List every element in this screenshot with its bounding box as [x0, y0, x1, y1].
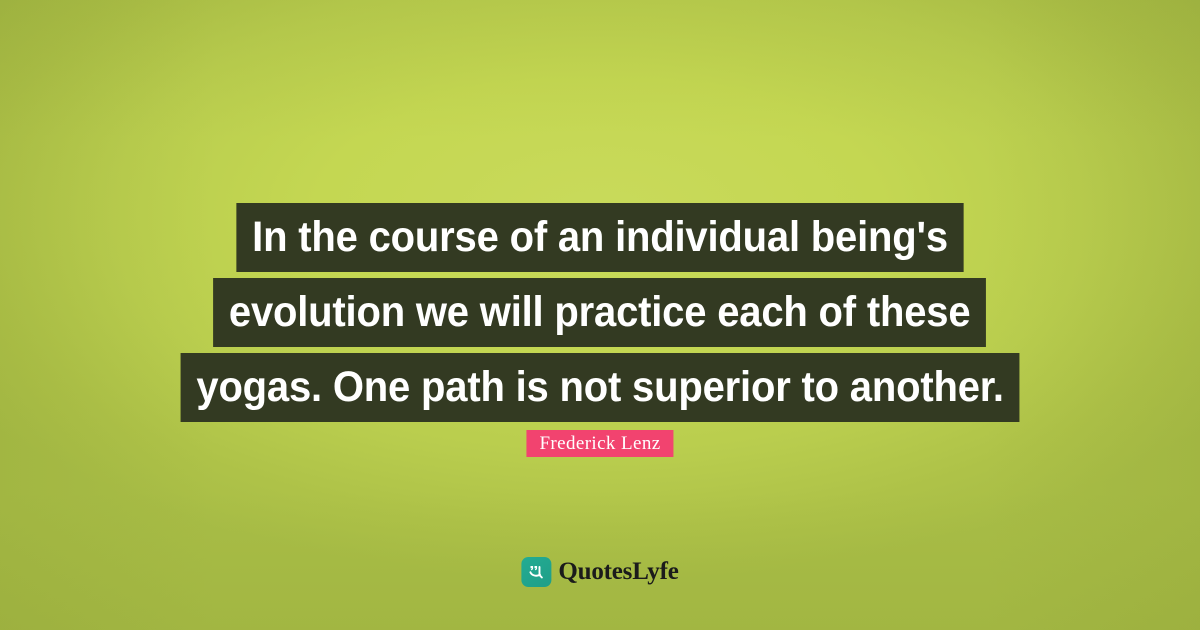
quote-line: evolution we will practice each of these: [213, 278, 986, 347]
quote-image-card: In the course of an individual being's e…: [0, 0, 1200, 630]
quote-line: yogas. One path is not superior to anoth…: [180, 353, 1019, 422]
quote-text-block: In the course of an individual being's e…: [0, 203, 1200, 422]
brand-logo[interactable]: QuotesLyfe: [521, 557, 678, 587]
brand-name: QuotesLyfe: [558, 557, 678, 587]
quote-bubble-icon: [521, 557, 551, 587]
quote-line: In the course of an individual being's: [236, 203, 963, 272]
author-badge: Frederick Lenz: [526, 430, 673, 457]
